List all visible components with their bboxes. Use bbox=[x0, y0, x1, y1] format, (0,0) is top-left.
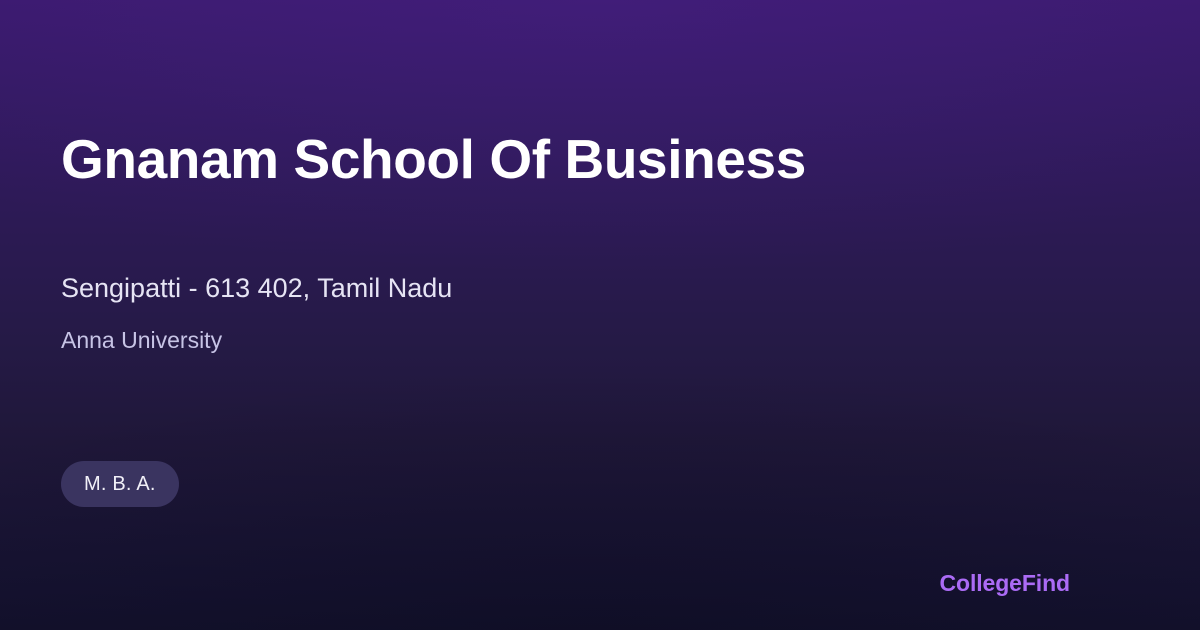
brand-logo-text: CollegeFind bbox=[939, 570, 1070, 597]
course-tag-mba: M. B. A. bbox=[61, 461, 179, 507]
college-address: Sengipatti - 613 402, Tamil Nadu bbox=[61, 272, 452, 304]
card-content: Gnanam School Of Business Sengipatti - 6… bbox=[0, 0, 1200, 630]
college-affiliation: Anna University bbox=[61, 327, 222, 355]
college-og-card: Gnanam School Of Business Sengipatti - 6… bbox=[0, 0, 1200, 630]
course-tag-list: M. B. A. bbox=[61, 461, 179, 507]
page-title: Gnanam School Of Business bbox=[61, 130, 806, 189]
